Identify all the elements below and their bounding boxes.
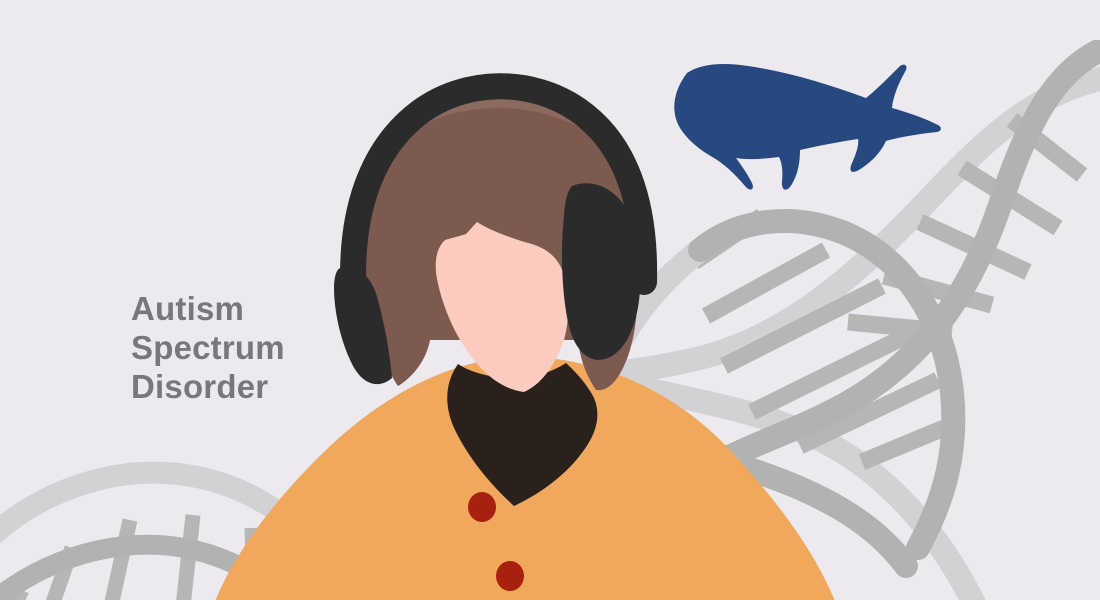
title-line-2: Spectrum (131, 329, 285, 366)
illustration-svg: Autism Spectrum Disorder (0, 0, 1100, 600)
title-line-3: Disorder (131, 368, 268, 405)
jacket-button-upper (468, 492, 496, 522)
title-line-1: Autism (131, 290, 244, 327)
illustration-canvas: Autism Spectrum Disorder (0, 0, 1100, 600)
jacket-button-lower (496, 561, 524, 591)
